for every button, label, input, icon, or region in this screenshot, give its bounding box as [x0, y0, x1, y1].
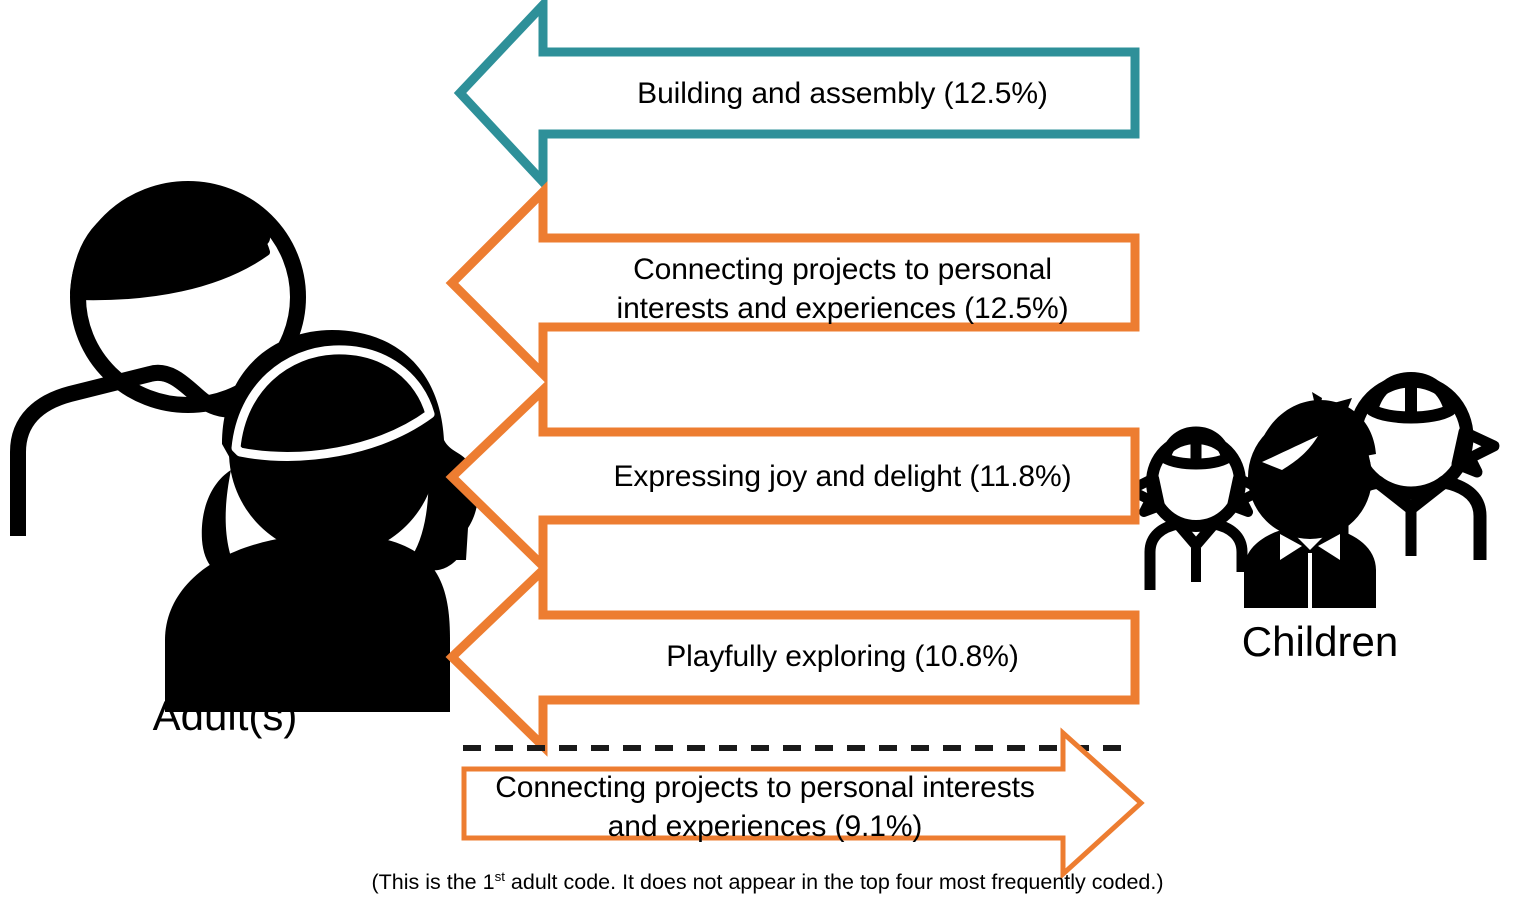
footnote-part1: (This is the 1: [371, 870, 494, 894]
adult-pair-icon: [18, 189, 478, 712]
arrow-label-building-and-assembly: Building and assembly (12.5%): [560, 74, 1125, 113]
children-group-icon: [1130, 378, 1494, 608]
diagram-canvas: Building and assembly (12.5%) Connecting…: [0, 0, 1535, 909]
arrow-label-playfully-exploring: Playfully exploring (10.8%): [560, 637, 1125, 676]
footnote-adult-code: (This is the 1st adult code. It does not…: [0, 869, 1535, 895]
footnote-part2: adult code. It does not appear in the to…: [505, 870, 1164, 894]
group-label-children: Children: [1160, 618, 1480, 666]
arrow-label-connecting-projects-adult: Connecting projects to personal interest…: [470, 768, 1060, 846]
arrow-label-expressing-joy-and-delight: Expressing joy and delight (11.8%): [560, 457, 1125, 496]
footnote-ordinal-suffix: st: [495, 869, 505, 884]
group-label-adults: Adult(s): [60, 692, 390, 740]
arrow-label-connecting-projects-child: Connecting projects to personal interest…: [560, 250, 1125, 328]
